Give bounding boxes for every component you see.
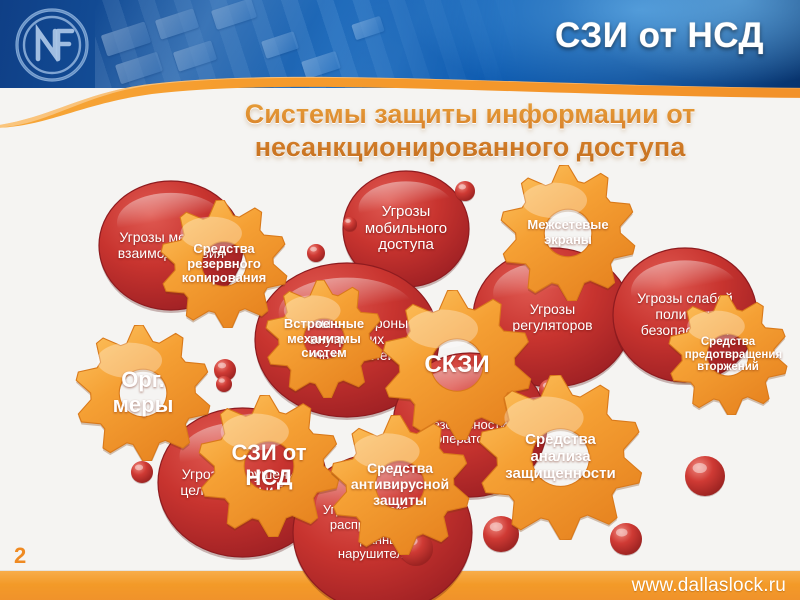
decor-sphere-sphere-7: [215, 375, 233, 393]
footer-url[interactable]: www.dallaslock.ru: [632, 575, 786, 597]
slide-root: СЗИ от НСД Системы защиты информации от …: [0, 0, 800, 600]
sphere-shape: [306, 243, 326, 263]
header-photo-texture: [95, 0, 525, 88]
decor-sphere-sphere-3: [454, 180, 476, 202]
solution-gear-gear-analysis[interactable]: Средства анализа защищенности: [478, 375, 643, 540]
solution-gear-gear-ips[interactable]: Средства предотвращения вторжений: [668, 295, 788, 415]
gear-shape: [265, 280, 383, 398]
gear-diagram: Угрозы методов взаимодействия Угрозы моб…: [0, 150, 800, 560]
gear-shape: [478, 375, 643, 540]
slide-header: СЗИ от НСД: [0, 0, 800, 88]
solution-gear-gear-firewall[interactable]: Межсетевые экраны: [500, 165, 636, 301]
subtitle-line-1: Системы защиты информации от: [150, 98, 790, 131]
gear-shape: [668, 295, 788, 415]
solution-gear-gear-szi-nsd[interactable]: СЗИ от НСД: [198, 395, 340, 537]
sphere-shape: [215, 375, 233, 393]
solution-gear-gear-antivirus[interactable]: Средства антивирусной защиты: [330, 415, 470, 555]
page-title: СЗИ от НСД: [555, 16, 764, 56]
decor-sphere-sphere-10: [684, 455, 726, 497]
page-number: 2: [14, 543, 26, 569]
gear-shape: [500, 165, 636, 301]
sphere-shape: [130, 460, 154, 484]
decor-sphere-sphere-6: [130, 460, 154, 484]
decor-sphere-sphere-2: [306, 243, 326, 263]
sphere-shape: [342, 216, 358, 232]
gear-shape: [330, 415, 470, 555]
sphere-shape: [454, 180, 476, 202]
gear-shape: [198, 395, 340, 537]
decor-sphere-sphere-4: [342, 216, 358, 232]
company-logo: [8, 6, 96, 84]
gear-shape: [75, 325, 211, 461]
solution-gear-gear-builtin[interactable]: Встроенные механизмы систем: [265, 280, 383, 398]
solution-gear-gear-org[interactable]: Орг. меры: [75, 325, 211, 461]
sphere-shape: [684, 455, 726, 497]
